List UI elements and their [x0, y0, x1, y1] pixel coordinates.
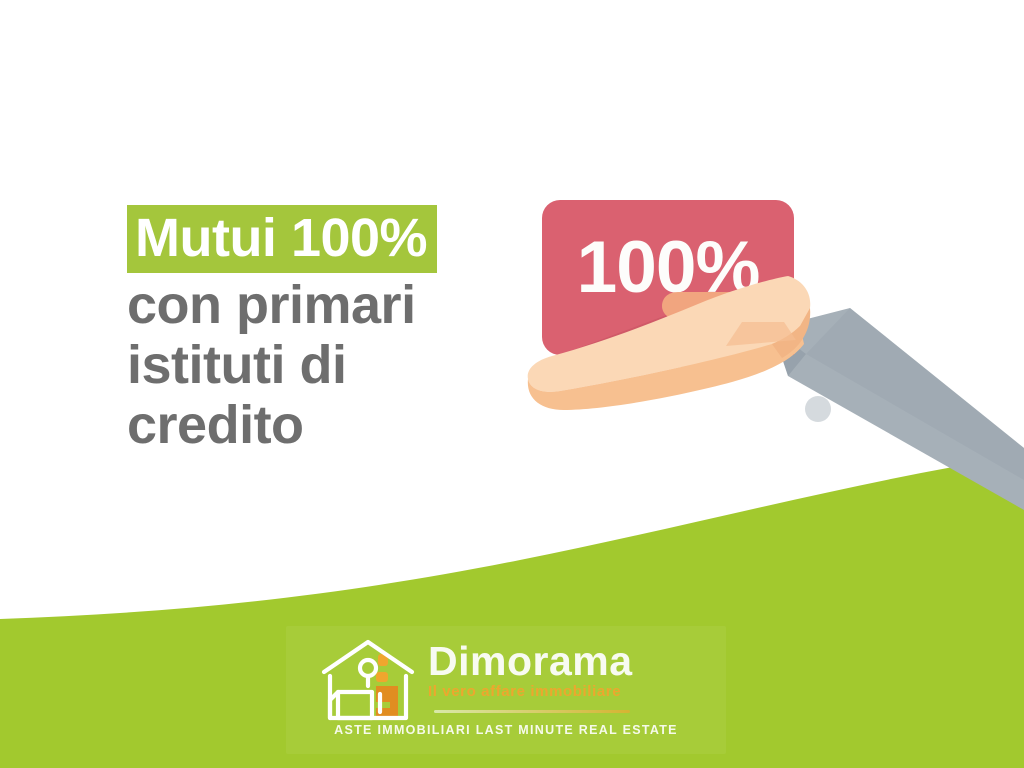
headline-line-4: credito	[127, 398, 527, 452]
headline-line-2: con primari	[127, 278, 527, 332]
brand-name: Dimorama	[428, 640, 718, 682]
logo-row: Dimorama Il vero affare immobiliare	[286, 630, 726, 722]
logo-subtitle: ASTE IMMOBILIARI LAST MINUTE REAL ESTATE	[286, 722, 726, 738]
logo-panel: Dimorama Il vero affare immobiliare ASTE…	[286, 626, 726, 754]
sleeve-button-icon	[805, 396, 831, 422]
headline-line-3: istituti di	[127, 338, 527, 392]
brand-underline-divider	[434, 710, 630, 713]
logo-wordmark: Dimorama Il vero affare immobiliare	[428, 640, 718, 700]
brand-tagline: Il vero affare immobiliare	[428, 683, 718, 700]
headline-line-1-highlight: Mutui 100%	[127, 205, 437, 273]
house-outline-icon	[318, 636, 424, 724]
headline-block: Mutui 100% con primari istituti di credi…	[127, 205, 527, 458]
promo-banner: Mutui 100% con primari istituti di credi…	[0, 0, 1024, 768]
hand-holding-card-illustration: 100%	[520, 180, 1024, 540]
